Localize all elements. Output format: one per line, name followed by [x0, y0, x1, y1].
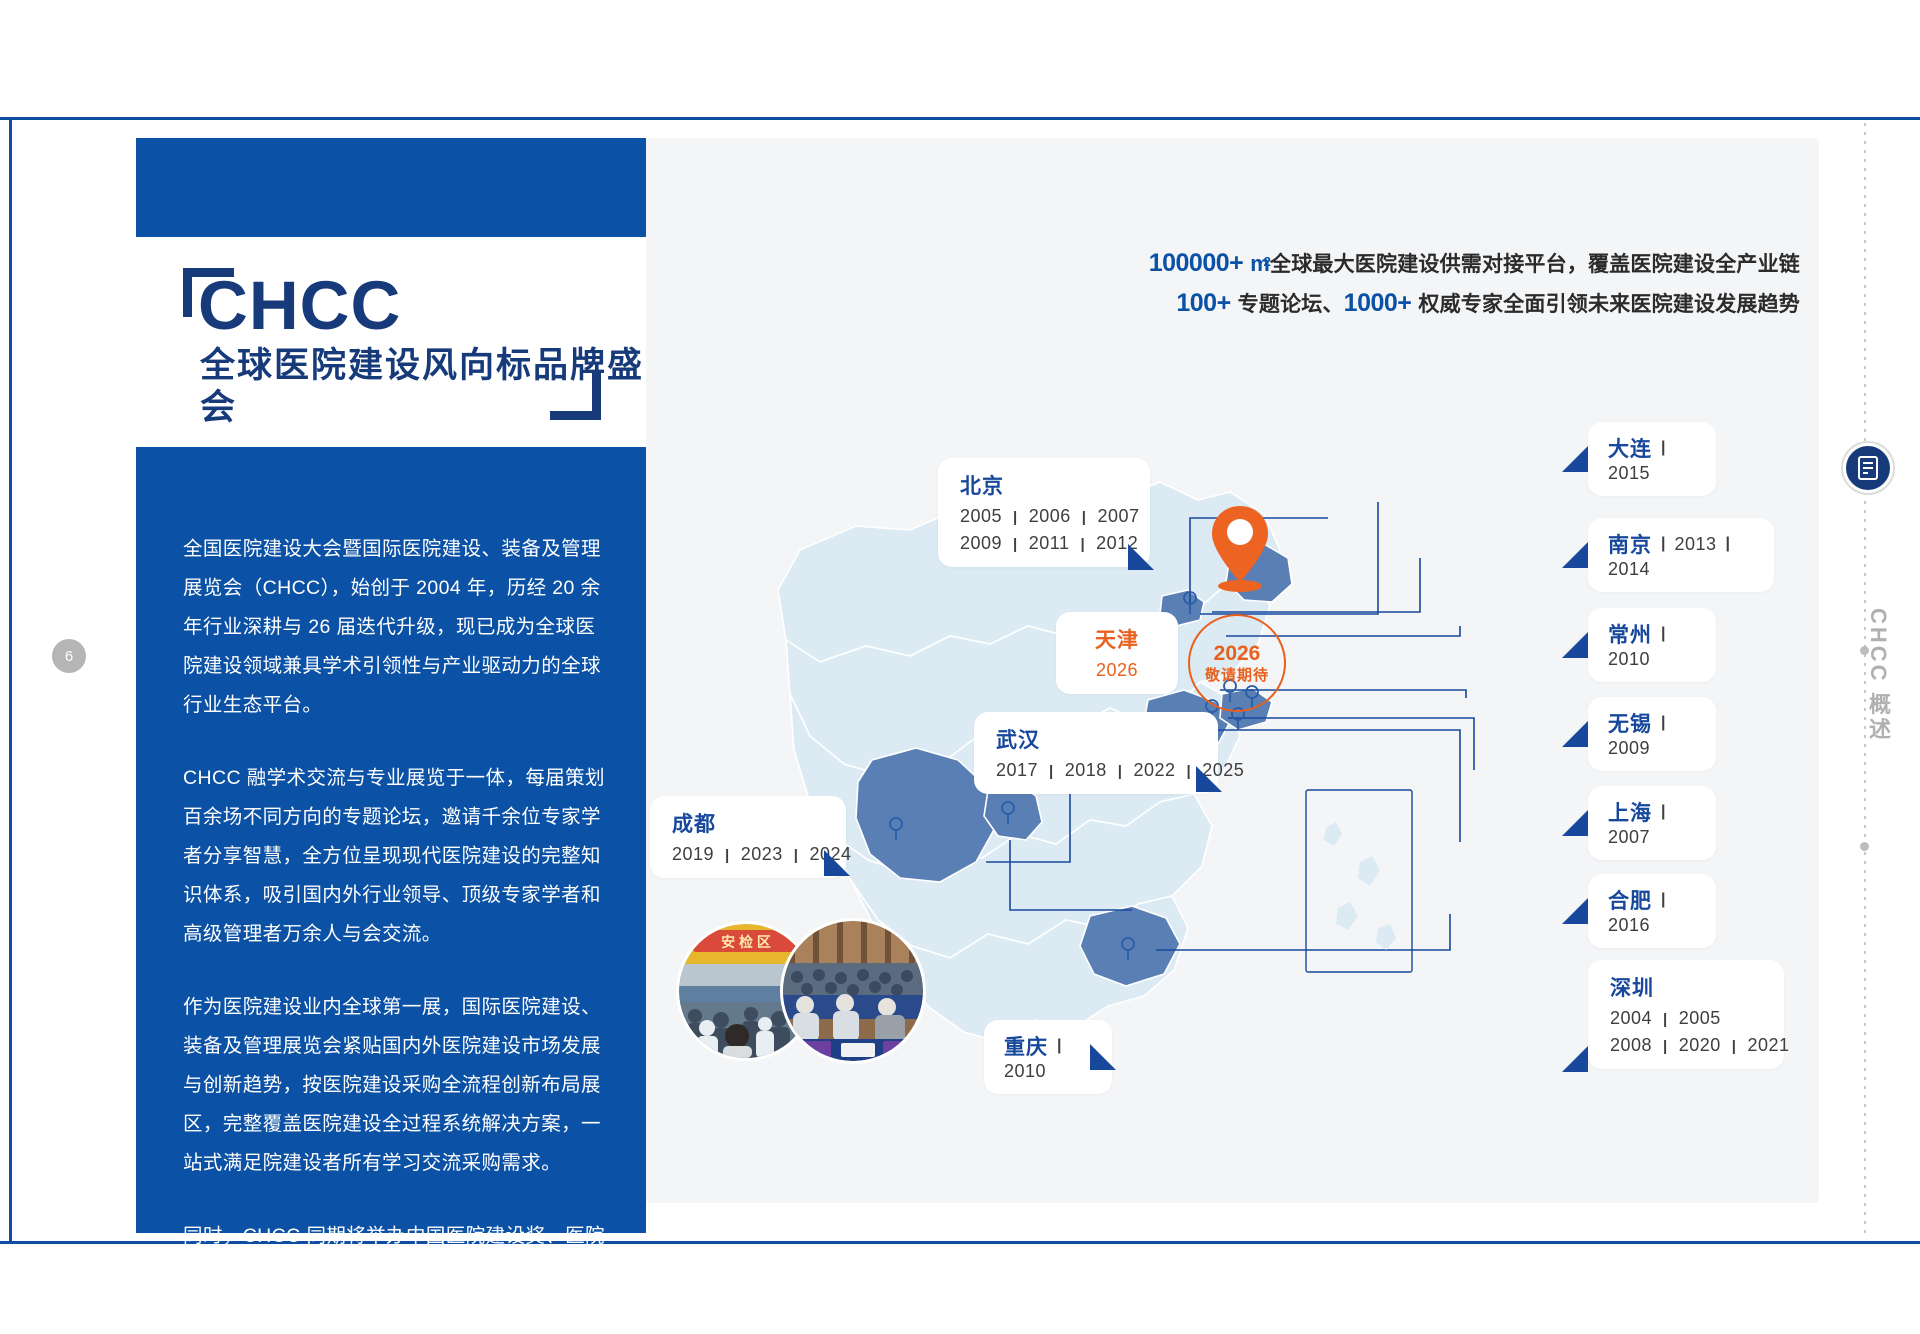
headline-line-2: 100+专题论坛、1000+权威专家全面引领未来医院建设发展趋势	[1120, 284, 1800, 324]
headline-metric-area: 100000+	[1149, 249, 1244, 277]
intro-copy: 全国医院建设大会暨国际医院建设、装备及管理展览会（CHCC），始创于 2004 …	[183, 530, 613, 1334]
map-label-years: 2016	[1608, 915, 1650, 936]
map-label-tail	[1562, 542, 1588, 568]
photo-conference-audience-art	[783, 921, 923, 1061]
map-label-city: 南京	[1608, 529, 1652, 559]
map-label-tail	[1562, 721, 1588, 747]
coming-soon-year: 2026	[1214, 641, 1261, 667]
map-label-tianjin[interactable]: 天津 2026	[1056, 612, 1178, 694]
map-label-years: 2009	[1608, 738, 1650, 759]
frame-rule-left	[9, 117, 12, 1244]
map-label-tail	[1090, 1044, 1116, 1070]
photo-group: 安 检 区	[676, 918, 936, 1058]
headline-block: 100000+m2全球最大医院建设供需对接平台，覆盖医院建设全产业链 100+专…	[1120, 244, 1800, 324]
map-label-years: 2004|2005	[1610, 1008, 1762, 1029]
intro-paragraph: 作为医院建设业内全球第一展，国际医院建设、装备及管理展览会紧贴国内外医院建设市场…	[183, 988, 613, 1183]
headline-unit: m2	[1250, 251, 1270, 276]
document-icon-glyph	[1857, 456, 1879, 480]
map-label-city: 无锡	[1608, 708, 1652, 738]
map-label-city: 常州	[1608, 619, 1652, 649]
headline-metric-experts: 1000+	[1344, 289, 1412, 317]
headline-text-2b: 权威专家全面引领未来医院建设发展趋势	[1418, 293, 1800, 316]
map-label-tail	[1562, 898, 1588, 924]
map-label-years: 2005|2006|2007	[960, 506, 1128, 527]
headline-line-1: 100000+m2全球最大医院建设供需对接平台，覆盖医院建设全产业链	[1120, 244, 1800, 284]
map-label-city: 武汉	[996, 724, 1040, 754]
map-label-nanjing[interactable]: 南京|2013|2014	[1588, 518, 1774, 592]
logo-card: CHCC 全球医院建设风向标品牌盛会	[136, 237, 646, 447]
map-label-years: 2010	[1608, 649, 1650, 670]
map-label-years-2: 2014	[1608, 559, 1650, 580]
map-label-shanghai[interactable]: 上海|2007	[1588, 786, 1716, 860]
map-label-city: 大连	[1608, 433, 1652, 463]
map-label-tail	[824, 850, 850, 876]
intro-paragraph: CHCC 融学术交流与专业展览于一体，每届策划百余场不同方向的专题论坛，邀请千余…	[183, 759, 613, 954]
map-label-years: 2007	[1608, 827, 1650, 848]
coming-soon-text: 敬请期待	[1205, 667, 1269, 686]
map-label-tail	[1562, 1046, 1588, 1072]
page-number: 6	[52, 639, 86, 673]
map-label-wuxi[interactable]: 无锡|2009	[1588, 697, 1716, 771]
map-label-chongqing[interactable]: 重庆|2010	[984, 1020, 1112, 1094]
map-label-city: 北京	[960, 470, 1004, 500]
map-label-tail	[1128, 544, 1154, 570]
map-label-chengdu[interactable]: 成都 2019|2023|2024	[650, 796, 846, 878]
map-label-tail	[1562, 446, 1588, 472]
brand-tagline: 全球医院建设风向标品牌盛会	[200, 345, 646, 429]
map-label-years: 2010	[1004, 1061, 1046, 1082]
map-label-tail	[1196, 766, 1222, 792]
map-label-years-2: 2009|2011|2012	[960, 533, 1128, 554]
map-label-city: 深圳	[1610, 972, 1654, 1002]
map-label-city: 成都	[672, 808, 716, 838]
photo-conference-audience	[780, 918, 926, 1064]
map-label-years: 2017|2018|2022|2025	[996, 760, 1196, 781]
section-label: CHCC 概述	[1862, 608, 1894, 743]
map-label-city: 上海	[1608, 797, 1652, 827]
map-label-years: 2013	[1674, 534, 1716, 555]
svg-text:安 检 区: 安 检 区	[721, 934, 771, 950]
intro-paragraph: 全国医院建设大会暨国际医院建设、装备及管理展览会（CHCC），始创于 2004 …	[183, 530, 613, 725]
map-label-shenzhen[interactable]: 深圳 2004|2005 2008|2020|2021	[1588, 960, 1784, 1069]
document-icon[interactable]	[1843, 443, 1893, 493]
map-label-changzhou[interactable]: 常州|2010	[1588, 608, 1716, 682]
rail-dot	[1860, 842, 1869, 851]
map-label-beijing[interactable]: 北京 2005|2006|2007 2009|2011|2012	[938, 458, 1150, 567]
map-label-city: 合肥	[1608, 885, 1652, 915]
frame-rule-top	[0, 117, 1920, 120]
headline-metric-forums: 100+	[1176, 289, 1230, 317]
slide-page: 6 CHCC 全球医院建设风向标品牌盛会 全国医院建设大会暨国际医院建设、装备及…	[0, 0, 1920, 1302]
coming-soon-badge[interactable]: 2026 敬请期待	[1188, 614, 1286, 712]
map-label-years: 2026	[1078, 660, 1156, 681]
map-label-years: 2019|2023|2024	[672, 844, 824, 865]
brand-logo-text: CHCC	[198, 271, 401, 340]
map-label-city: 重庆	[1004, 1031, 1048, 1061]
map-label-hefei[interactable]: 合肥|2016	[1588, 874, 1716, 948]
map-label-city: 天津	[1095, 624, 1139, 654]
map-label-wuhan[interactable]: 武汉 2017|2018|2022|2025	[974, 712, 1218, 794]
headline-text-1: 全球最大医院建设供需对接平台，覆盖医院建设全产业链	[1270, 253, 1800, 276]
map-label-years-2: 2008|2020|2021	[1610, 1035, 1762, 1056]
map-label-years: 2015	[1608, 463, 1650, 484]
map-label-dalian[interactable]: 大连|2015	[1588, 422, 1716, 496]
map-label-tail	[1562, 810, 1588, 836]
intro-paragraph: 同时，CHCC 同期将举办中国医院建设奖、医院考察、新技术发布会等一系列精彩纷呈…	[183, 1217, 613, 1334]
headline-text-2a: 专题论坛、	[1238, 293, 1344, 316]
map-label-tail	[1562, 632, 1588, 658]
